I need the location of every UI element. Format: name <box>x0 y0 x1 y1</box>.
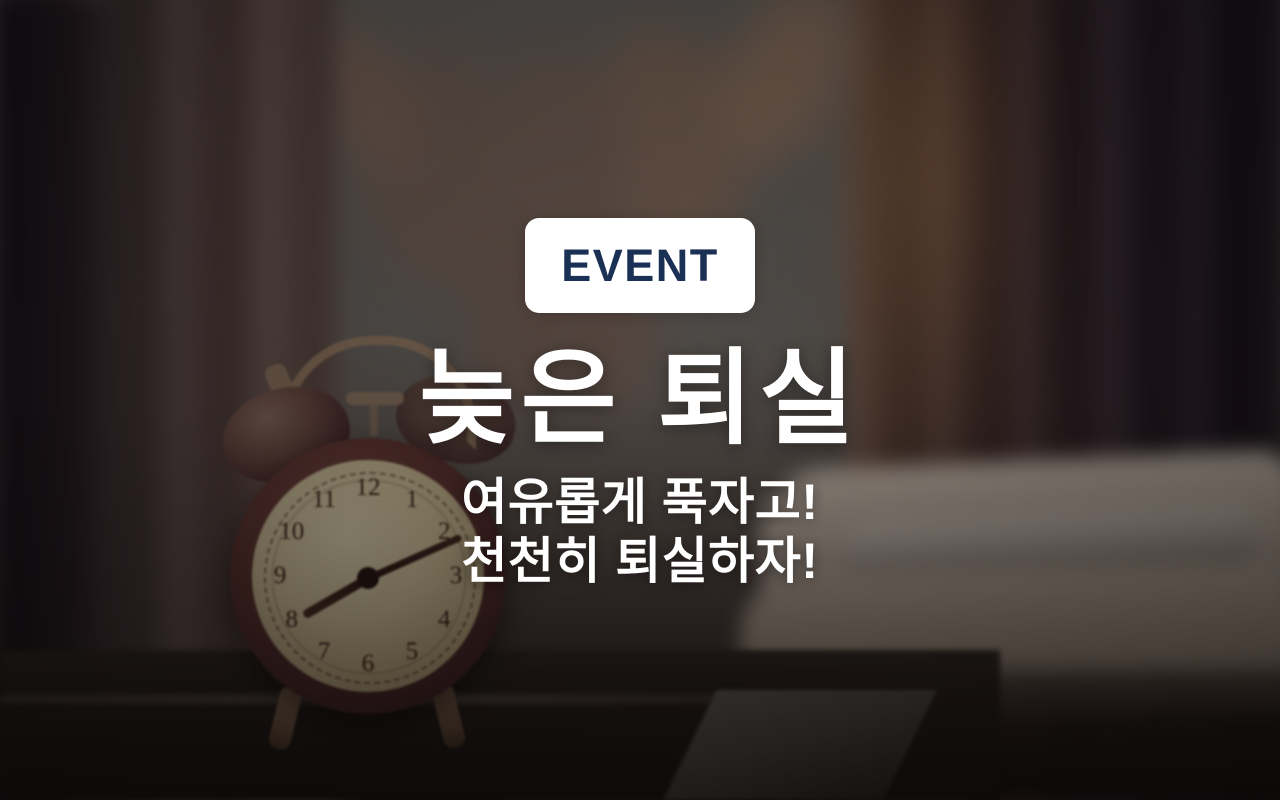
banner-subhead: 여유롭게 푹자고! 천천히 퇴실하자! <box>461 473 818 591</box>
banner-subhead-line-2: 천천히 퇴실하자! <box>461 532 818 591</box>
banner-headline: 늦은 퇴실 <box>419 347 861 451</box>
event-badge-label: EVENT <box>561 243 719 288</box>
banner-subhead-line-1: 여유롭게 푹자고! <box>461 473 818 532</box>
banner-content: EVENT 늦은 퇴실 여유롭게 푹자고! 천천히 퇴실하자! <box>0 0 1280 800</box>
event-badge: EVENT <box>525 218 755 313</box>
event-banner: 121234567891011 EVENT 늦은 퇴실 여유롭게 푹자고! 천천… <box>0 0 1280 800</box>
